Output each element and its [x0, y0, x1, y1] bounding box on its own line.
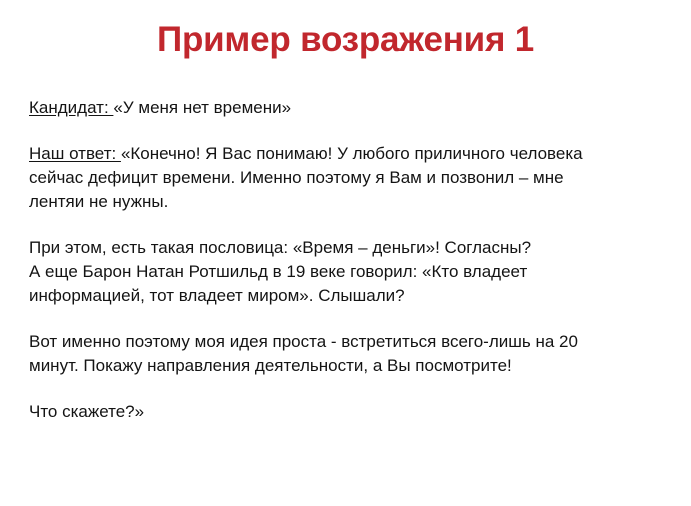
- paragraph-line: Наш ответ: «Конечно! Я Вас понимаю! У лю…: [29, 142, 675, 166]
- label-candidate: Кандидат:: [29, 98, 113, 117]
- paragraph-candidate: Кандидат: «У меня нет времени»: [29, 96, 675, 120]
- paragraph-line: Что скажете?»: [29, 400, 675, 424]
- paragraph-line: Кандидат: «У меня нет времени»: [29, 96, 675, 120]
- paragraph-line-text: «Конечно! Я Вас понимаю! У любого прилич…: [121, 144, 583, 163]
- paragraph-line: Вот именно поэтому моя идея проста - вст…: [29, 330, 675, 354]
- paragraph-closing: Что скажете?»: [29, 400, 675, 424]
- page-title: Пример возражения 1: [0, 18, 691, 62]
- paragraph-line: минут. Покажу направления деятельности, …: [29, 354, 675, 378]
- paragraph-our-answer: Наш ответ: «Конечно! Я Вас понимаю! У лю…: [29, 142, 675, 214]
- paragraph-offer: Вот именно поэтому моя идея проста - вст…: [29, 330, 675, 378]
- paragraph-line: А еще Барон Натан Ротшильд в 19 веке гов…: [29, 260, 675, 284]
- paragraph-line: информацией, тот владеет миром». Слышали…: [29, 284, 675, 308]
- paragraph-line-text: «У меня нет времени»: [113, 98, 291, 117]
- slide-canvas: Пример возражения 1 Кандидат: «У меня не…: [0, 0, 691, 506]
- slide-body: Кандидат: «У меня нет времени» Наш ответ…: [29, 96, 675, 424]
- paragraph-line: сейчас дефицит времени. Именно поэтому я…: [29, 166, 675, 190]
- paragraph-proverb: При этом, есть такая пословица: «Время –…: [29, 236, 675, 308]
- paragraph-line: лентяи не нужны.: [29, 190, 675, 214]
- label-our-answer: Наш ответ:: [29, 144, 121, 163]
- paragraph-line: При этом, есть такая пословица: «Время –…: [29, 236, 675, 260]
